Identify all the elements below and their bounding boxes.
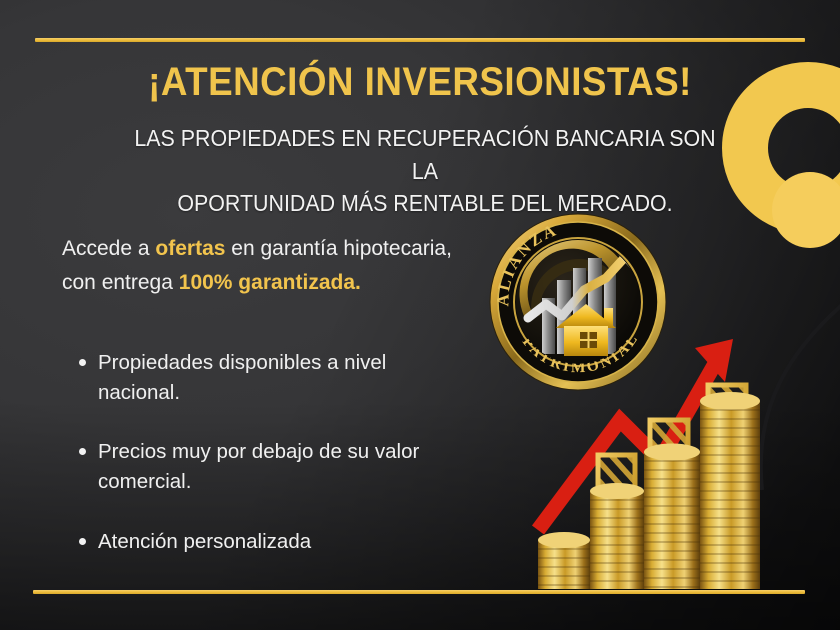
bullet-dot-icon: [79, 538, 86, 545]
bullet-dot-icon: [79, 448, 86, 455]
coin-stack-2: [590, 483, 644, 589]
coin-stack-3: [644, 444, 700, 590]
page-title: ¡ATENCIÓN INVERSIONISTAS!: [34, 60, 807, 105]
gold-circle-shape: [772, 172, 840, 248]
list-item-label: Precios muy por debajo de su valor comer…: [98, 440, 419, 493]
list-item-label: Propiedades disponibles a nivel nacional…: [98, 351, 386, 404]
lede-highlight-ofertas: ofertas: [155, 237, 225, 260]
lede-highlight-garantizada: 100% garantizada.: [179, 271, 361, 294]
coin-stack-chart: [520, 300, 840, 591]
lede-part-1: Accede a: [62, 237, 155, 260]
promo-poster: ¡ATENCIÓN INVERSIONISTAS! LAS PROPIEDADE…: [0, 0, 840, 630]
benefits-list: Propiedades disponibles a nivel nacional…: [62, 348, 462, 557]
list-item: Atención personalizada: [62, 527, 462, 557]
lede-paragraph: Accede a ofertas en garantía hipotecaria…: [62, 232, 452, 300]
coin-stack-4: [700, 392, 760, 589]
subheading-line-1: LAS PROPIEDADES EN RECUPERACIÓN BANCARIA…: [132, 122, 718, 187]
list-item: Precios muy por debajo de su valor comer…: [62, 437, 462, 496]
subheading: LAS PROPIEDADES EN RECUPERACIÓN BANCARIA…: [132, 122, 718, 220]
coin-stack-1: [538, 532, 590, 589]
top-divider-rule: [35, 38, 805, 42]
list-item-label: Atención personalizada: [98, 530, 311, 553]
bullet-dot-icon: [79, 359, 86, 366]
list-item: Propiedades disponibles a nivel nacional…: [62, 348, 462, 407]
